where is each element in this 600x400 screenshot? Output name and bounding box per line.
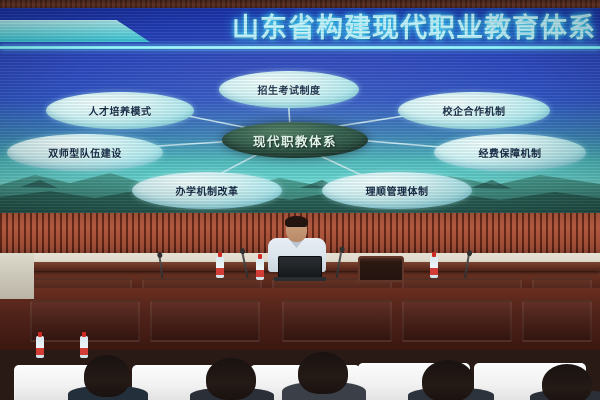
water-bottle [36, 336, 44, 358]
diagram-center-node[interactable]: 现代职教体系 [222, 122, 368, 158]
back-desk-panel [402, 300, 512, 342]
node-label: 经费保障机制 [479, 145, 542, 160]
diagram-node-funding[interactable]: 经费保障机制 [434, 134, 586, 171]
audience-head [542, 364, 592, 400]
audience-head [422, 360, 474, 400]
diagram-node-dual-teacher[interactable]: 双师型队伍建设 [7, 134, 163, 171]
node-label: 理顺管理体制 [366, 183, 429, 198]
empty-chair [358, 256, 404, 282]
back-desk-panel [522, 300, 592, 342]
diagram-node-talent-training[interactable]: 人才培养模式 [46, 92, 194, 129]
water-bottle [80, 336, 88, 358]
node-label: 办学机制改革 [176, 183, 239, 198]
back-desk-panel [282, 300, 392, 342]
diagram-node-school-running[interactable]: 办学机制改革 [132, 172, 282, 209]
laptop-base [274, 277, 326, 281]
conference-photo: 山东省构建现代职业教育体系 [0, 0, 600, 400]
laptop-icon [278, 256, 322, 278]
glasses-icon [287, 226, 306, 230]
water-bottle [216, 256, 224, 278]
back-desk-panel [150, 300, 260, 342]
center-node-label: 现代职教体系 [253, 131, 337, 150]
left-wall-panel [0, 253, 34, 299]
audience-head [206, 358, 256, 400]
node-label: 人才培养模式 [89, 103, 152, 118]
projection-screen: 山东省构建现代职业教育体系 [0, 8, 600, 213]
water-bottle [256, 258, 264, 280]
diagram-node-admissions[interactable]: 招生考试制度 [219, 71, 359, 108]
diagram-node-management[interactable]: 理顺管理体制 [322, 172, 472, 209]
audience-head [298, 352, 348, 394]
diagram-node-school-enterprise[interactable]: 校企合作机制 [398, 92, 550, 129]
node-label: 校企合作机制 [443, 103, 506, 118]
node-label: 双师型队伍建设 [48, 145, 122, 160]
water-bottle [430, 256, 438, 278]
node-label: 招生考试制度 [258, 82, 321, 97]
audience-head [84, 355, 130, 397]
